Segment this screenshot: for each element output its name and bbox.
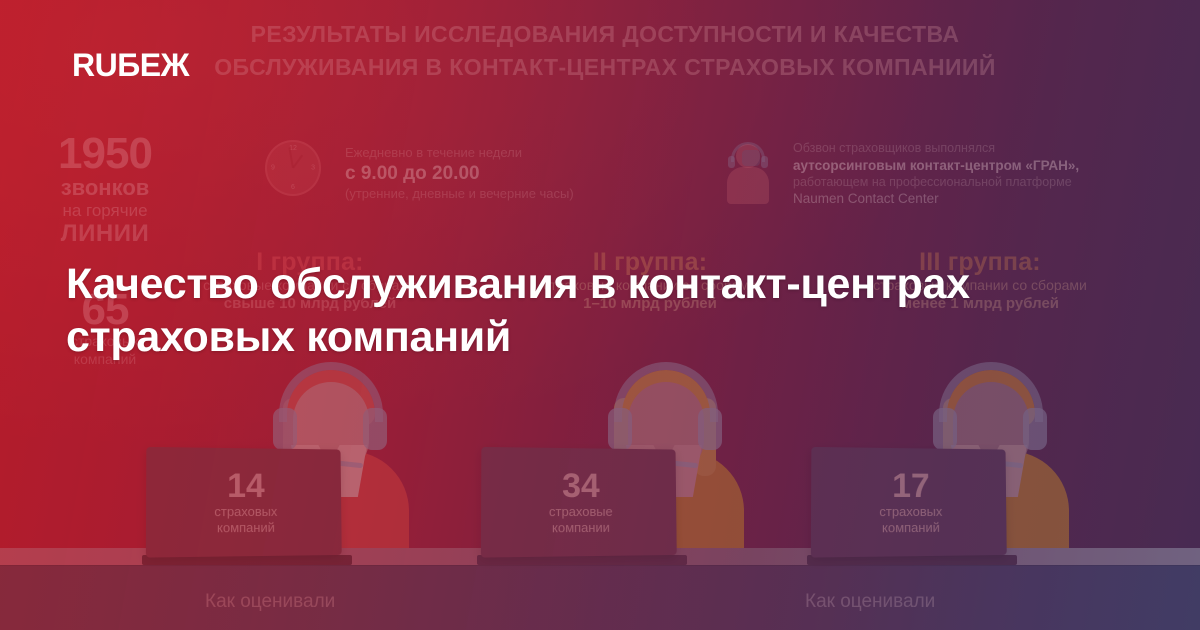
laptop-3-count: 17 xyxy=(892,468,930,504)
provider-text: Обзвон страховщиков выполнялся аутсорсин… xyxy=(793,140,1123,207)
headset-operator-icon xyxy=(722,140,774,204)
laptop-2-label-1: страховые xyxy=(549,504,613,520)
article-title: Качество обслуживания в контакт-центрах … xyxy=(66,258,1106,364)
stat-calls: 1950 звонков на горячие ЛИНИИ xyxy=(30,132,180,247)
laptop-2-label-2: компании xyxy=(552,520,610,536)
provider-line-1: Обзвон страховщиков выполнялся xyxy=(793,140,1123,157)
provider-line-3: работающем на профессиональной платформе xyxy=(793,174,1123,191)
laptop-1-label-2: компаний xyxy=(217,520,275,536)
laptop-1-count: 14 xyxy=(227,468,265,504)
provider-line-4: Naumen Contact Center xyxy=(793,190,1123,207)
stat-calls-label: звонков xyxy=(30,176,180,200)
clock-tick-3: 3 xyxy=(311,165,315,172)
infographic-cover: Результаты исследования доступности и ка… xyxy=(0,0,1200,630)
schedule-line-1: Ежедневно в течение недели xyxy=(345,144,625,162)
clock-icon: 12 3 6 9 xyxy=(265,140,321,196)
clock-tick-6: 6 xyxy=(291,184,295,191)
stat-calls-sub: на горячие xyxy=(30,200,180,221)
laptop-card-2: 34 страховые компании xyxy=(483,448,679,556)
infographic-headline: Результаты исследования доступности и ка… xyxy=(200,18,1010,84)
laptop-2-count: 34 xyxy=(562,468,600,504)
laptop-3-label-1: страховых xyxy=(879,504,942,520)
schedule-line-3: (утренние, дневные и вечерние часы) xyxy=(345,185,625,203)
site-logo[interactable]: RUБЕЖ xyxy=(72,48,189,82)
how-evaluated-label-left: Как оценивали xyxy=(205,591,335,613)
laptop-3-label-2: компаний xyxy=(882,520,940,536)
provider-line-2: аутсорсинговым контакт-центром «ГРАН», xyxy=(793,157,1123,174)
stat-calls-number: 1950 xyxy=(30,132,180,176)
clock-tick-9: 9 xyxy=(271,165,275,172)
how-evaluated-label-right: Как оценивали xyxy=(805,591,935,613)
stat-calls-target: ЛИНИИ xyxy=(30,221,180,247)
laptop-card-1: 14 страховых компаний xyxy=(148,448,344,556)
schedule-text: Ежедневно в течение недели с 9.00 до 20.… xyxy=(345,144,625,203)
floor-area xyxy=(0,565,1200,630)
laptop-1-label-1: страховых xyxy=(214,504,277,520)
laptop-card-3: 17 страховых компаний xyxy=(813,448,1009,556)
schedule-line-2: с 9.00 до 20.00 xyxy=(345,162,625,185)
